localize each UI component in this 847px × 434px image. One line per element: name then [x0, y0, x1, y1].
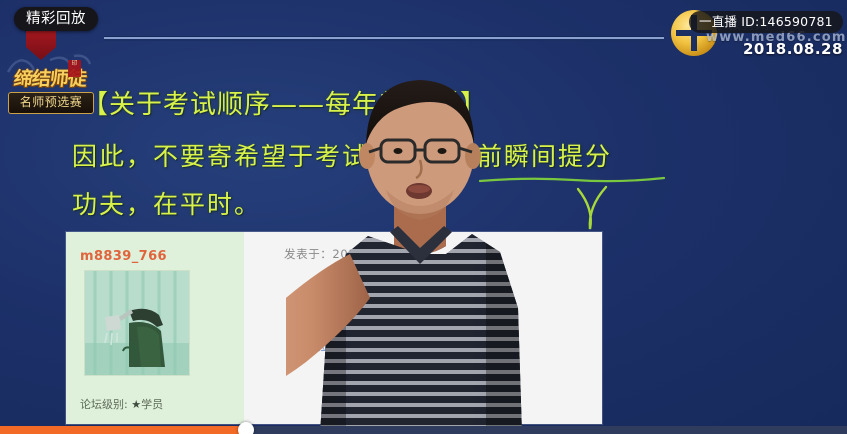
video-progress-fill — [0, 426, 246, 434]
avatar-illustration — [85, 271, 189, 375]
seal-icon: 印 — [68, 60, 81, 77]
watermark-date: 2018.08.28 — [743, 40, 843, 58]
replay-badge[interactable]: 精彩回放 — [14, 7, 98, 31]
video-progress-handle[interactable] — [238, 422, 254, 434]
forum-level-label: 论坛级别: — [80, 398, 128, 411]
contest-title: 缔结师徒 — [3, 64, 98, 91]
video-player-stage: 【关于考试顺序——每年都一样】 因此，不要寄希望于考试当天，考前瞬间提分 功夫，… — [0, 0, 847, 434]
forum-level-value: 学员 — [141, 398, 163, 411]
slide-body-line-2: 功夫，在平时。 — [72, 185, 261, 221]
forum-username: m8839_766 — [80, 249, 167, 264]
forum-post-author-panel: m8839_766 — [66, 232, 245, 424]
video-progress-bar[interactable] — [0, 426, 847, 434]
presenter-photo — [286, 40, 586, 434]
contest-logo: 缔结师徒 印 名师预选赛 — [0, 32, 98, 120]
live-id-badge: 一直播 ID:146590781 — [689, 11, 843, 33]
forum-avatar — [84, 270, 190, 376]
star-icon: ★ — [131, 398, 141, 411]
forum-level: 论坛级别: ★学员 — [80, 396, 163, 412]
contest-subtitle: 名师预选赛 — [8, 92, 94, 114]
